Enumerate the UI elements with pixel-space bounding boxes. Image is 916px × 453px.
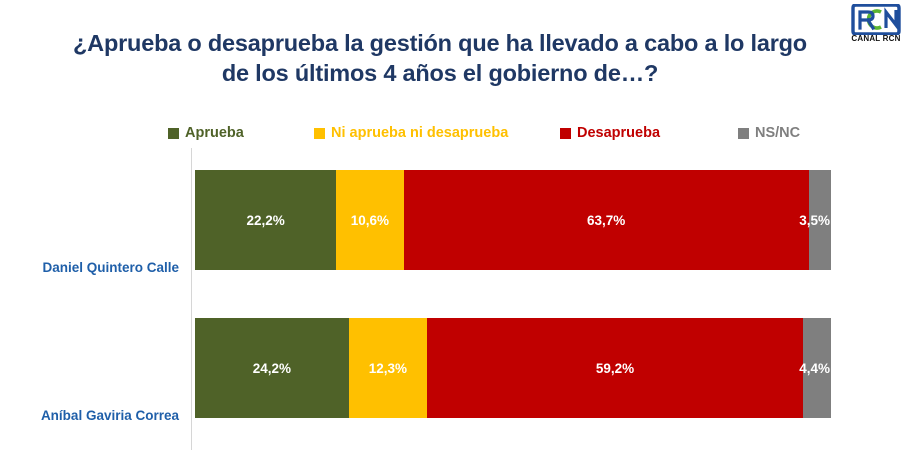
header: ¿Aprueba o desaprueba la gestión que ha … — [0, 0, 916, 100]
bar-value-label: 12,3% — [369, 361, 407, 376]
category-axis-labels: Daniel Quintero CalleAníbal Gaviria Corr… — [0, 148, 191, 450]
bar-value-label: 59,2% — [596, 361, 634, 376]
rcn-logo-mark — [851, 4, 901, 35]
bar-value-label: 10,6% — [351, 213, 389, 228]
value-axis-line — [191, 148, 192, 450]
stacked-bar-chart: ApruebaNi aprueba ni desapruebaDesaprueb… — [0, 100, 916, 453]
bar-value-label: 3,5% — [799, 213, 830, 228]
title-line-2: de los últimos 4 años el gobierno de…? — [20, 58, 860, 88]
legend-item-ns-nc[interactable]: NS/NC — [738, 122, 800, 144]
bar-value-label: 22,2% — [246, 213, 284, 228]
bar-value-label: 4,4% — [799, 361, 830, 376]
bar-segment[interactable]: 24,2% — [195, 318, 349, 418]
bar-segment[interactable]: 10,6% — [336, 170, 403, 270]
category-label: Daniel Quintero Calle — [1, 260, 179, 276]
chart-legend: ApruebaNi aprueba ni desapruebaDesaprueb… — [168, 122, 808, 144]
plot-area: 22,2%10,6%63,7%3,5%24,2%12,3%59,2%4,4% — [191, 148, 916, 450]
bar-value-label: 63,7% — [587, 213, 625, 228]
bar-segment[interactable]: 12,3% — [349, 318, 427, 418]
title-line-1: ¿Aprueba o desaprueba la gestión que ha … — [20, 28, 860, 58]
bar-row: 22,2%10,6%63,7%3,5% — [195, 170, 831, 270]
legend-swatch-icon — [738, 128, 749, 139]
page-title: ¿Aprueba o desaprueba la gestión que ha … — [20, 28, 860, 88]
bar-segment[interactable]: 22,2% — [195, 170, 336, 270]
legend-label: Ni aprueba ni desaprueba — [331, 125, 508, 141]
bar-segment[interactable]: 4,4% — [803, 318, 831, 418]
legend-label: Aprueba — [185, 125, 244, 141]
bar-value-label: 24,2% — [253, 361, 291, 376]
legend-label: Desaprueba — [577, 125, 660, 141]
bar-segment[interactable]: 3,5% — [809, 170, 831, 270]
bar-segment[interactable]: 59,2% — [427, 318, 803, 418]
legend-item-aprueba[interactable]: Aprueba — [168, 122, 244, 144]
category-label: Aníbal Gaviria Correa — [1, 408, 179, 424]
bar-row: 24,2%12,3%59,2%4,4% — [195, 318, 831, 418]
legend-swatch-icon — [314, 128, 325, 139]
legend-item-desaprueba[interactable]: Desaprueba — [560, 122, 660, 144]
bar-segment[interactable]: 63,7% — [404, 170, 809, 270]
legend-item-ni-aprueba-ni-desaprueba[interactable]: Ni aprueba ni desaprueba — [314, 122, 508, 144]
legend-swatch-icon — [560, 128, 571, 139]
rcn-logo-caption: CANAL RCN — [846, 34, 906, 43]
rcn-logo: CANAL RCN — [846, 4, 906, 48]
legend-label: NS/NC — [755, 125, 800, 141]
legend-swatch-icon — [168, 128, 179, 139]
